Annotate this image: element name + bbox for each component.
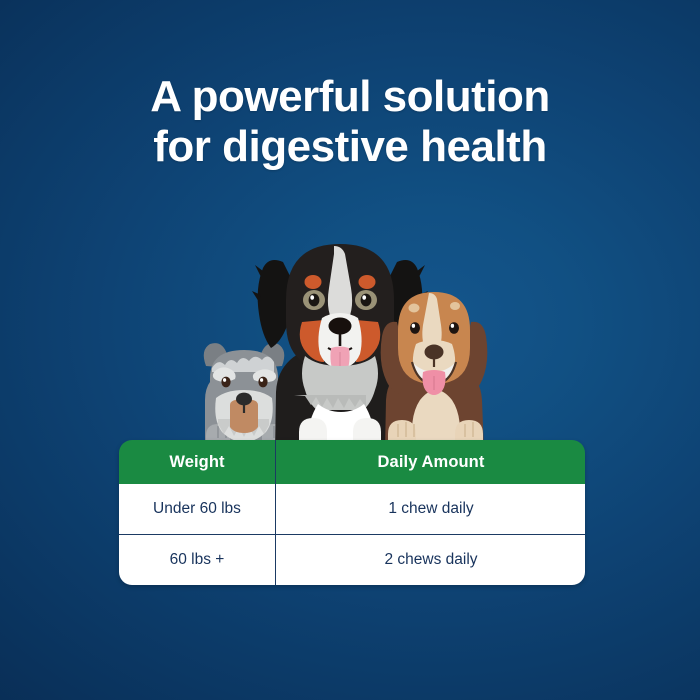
table-row: Under 60 lbs 1 chew daily xyxy=(119,484,585,534)
table-row: 60 lbs + 2 chews daily xyxy=(119,534,585,585)
cell-amount-one-chew: 1 chew daily xyxy=(275,484,585,534)
cell-weight-over-60: 60 lbs + xyxy=(119,535,275,585)
table-header-row: Weight Daily Amount xyxy=(119,440,585,484)
dosage-table: Weight Daily Amount Under 60 lbs 1 chew … xyxy=(119,440,585,585)
three-dogs-illustration xyxy=(0,0,700,700)
promo-graphic: A powerful solution for digestive health xyxy=(0,0,700,700)
column-header-daily-amount: Daily Amount xyxy=(275,440,585,484)
cell-amount-two-chews: 2 chews daily xyxy=(275,535,585,585)
cell-weight-under-60: Under 60 lbs xyxy=(119,484,275,534)
column-header-weight: Weight xyxy=(119,440,275,484)
schnauzer-dog xyxy=(204,343,286,452)
